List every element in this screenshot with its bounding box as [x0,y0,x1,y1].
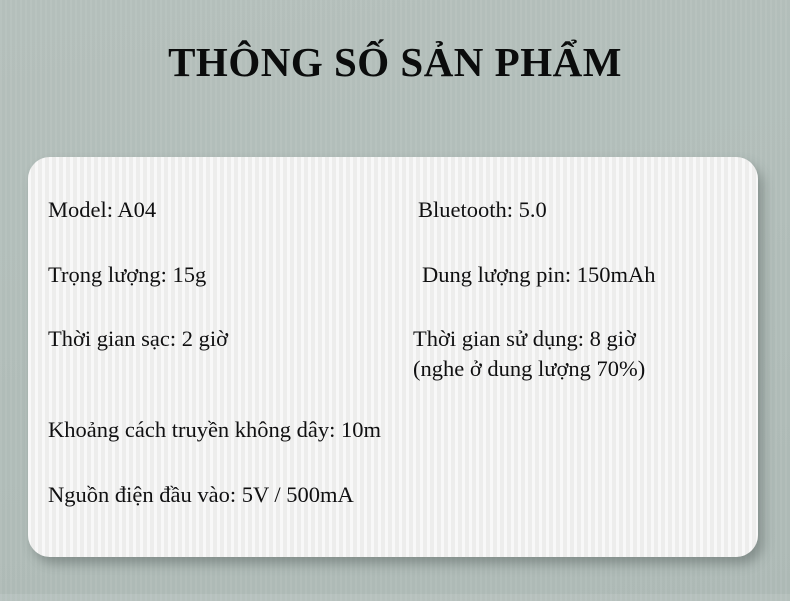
spec-item-model: Model: A04 [48,195,156,225]
spec-item-power-input: Nguồn điện đầu vào: 5V / 500mA [48,480,354,510]
spec-item-battery-capacity: Dung lượng pin: 150mAh [422,260,655,290]
product-spec-slide: THÔNG SỐ SẢN PHẨM Model: A04 Bluetooth: … [0,0,790,601]
spec-item-usage-time-note: (nghe ở dung lượng 70%) [413,354,645,384]
bottom-edge-band [0,594,790,601]
spec-item-usage-time-main: Thời gian sử dụng: 8 giờ [413,324,645,354]
spec-item-bluetooth: Bluetooth: 5.0 [418,195,547,225]
page-title: THÔNG SỐ SẢN PHẨM [0,40,790,86]
spec-item-wireless-range: Khoảng cách truyền không dây: 10m [48,415,381,445]
spec-card: Model: A04 Bluetooth: 5.0 Trọng lượng: 1… [28,157,758,557]
spec-item-charge-time: Thời gian sạc: 2 giờ [48,324,228,354]
spec-item-weight: Trọng lượng: 15g [48,260,206,290]
spec-item-usage-time: Thời gian sử dụng: 8 giờ (nghe ở dung lư… [413,324,645,384]
